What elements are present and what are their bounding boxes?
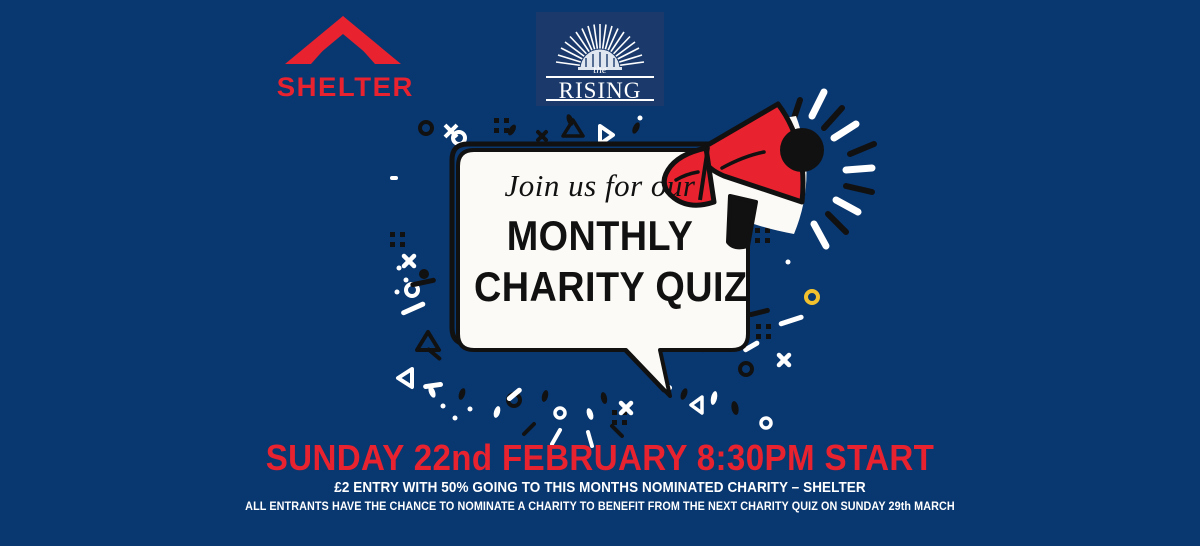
headline-charity-quiz: CHARITY QUIZ bbox=[474, 266, 726, 309]
headline-monthly: MONTHLY bbox=[474, 215, 726, 258]
shelter-wordmark: SHELTER bbox=[277, 74, 410, 101]
poster-canvas: SHELTER bbox=[0, 0, 1200, 546]
logo-row: SHELTER bbox=[0, 0, 1200, 120]
next-quiz-line: ALL ENTRANTS HAVE THE CHANCE TO NOMINATE… bbox=[60, 499, 1140, 513]
rising-sun-the: the bbox=[536, 64, 664, 76]
bubble-text: Join us for our MONTHLY CHARITY QUIZ bbox=[460, 170, 740, 309]
shelter-logo: SHELTER bbox=[278, 14, 408, 106]
rising-sun-wordmark: RISING SUN bbox=[536, 78, 664, 106]
join-script-line: Join us for our bbox=[460, 170, 740, 201]
bubble-text-wrap: Join us for our MONTHLY CHARITY QUIZ bbox=[420, 120, 800, 420]
event-date-line: SUNDAY 22nd FEBRUARY 8:30PM START bbox=[48, 437, 1152, 479]
chevron-roof-icon bbox=[283, 14, 403, 66]
entry-fee-line: £2 ENTRY WITH 50% GOING TO THIS MONTHS N… bbox=[60, 479, 1140, 496]
rising-sun-logo: the RISING SUN bbox=[536, 12, 664, 106]
